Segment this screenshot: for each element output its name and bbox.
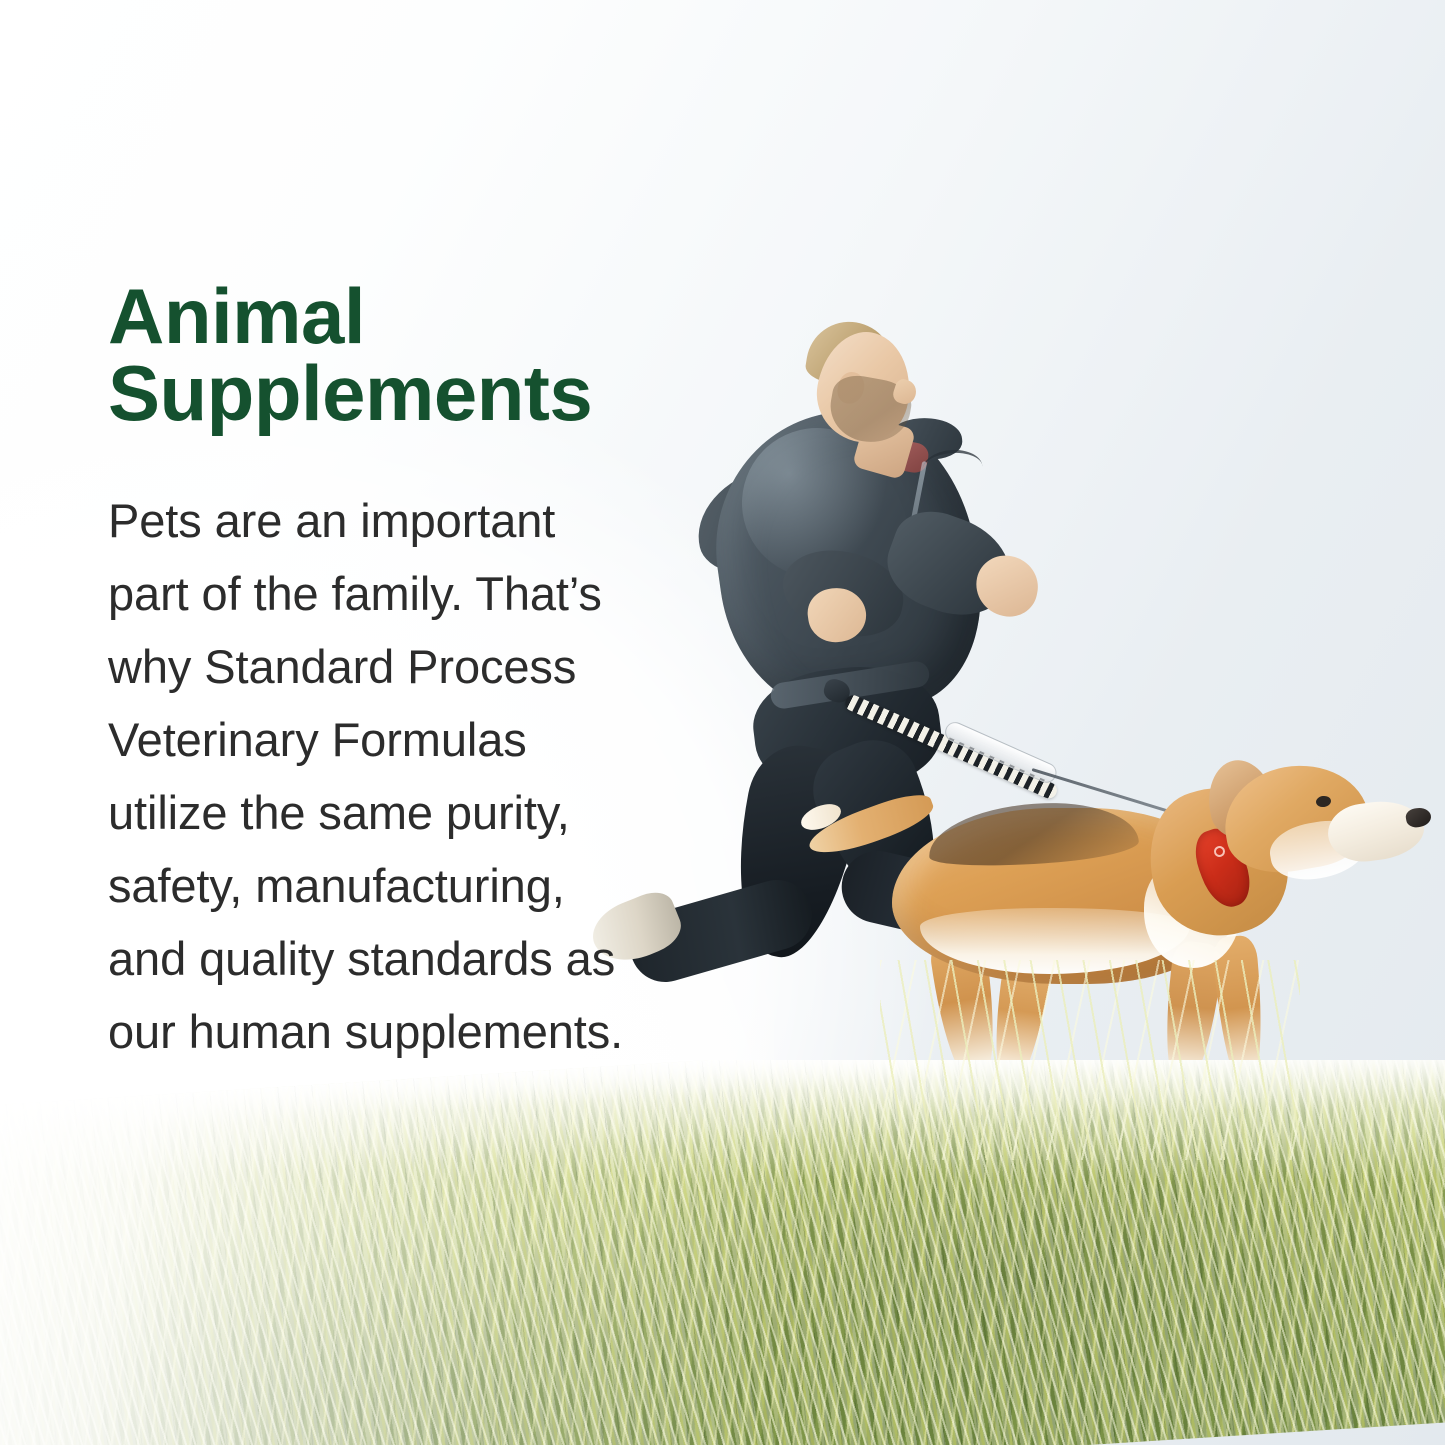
body-paragraph: Pets are an important part of the family… xyxy=(108,484,708,1068)
dog-nose xyxy=(1405,806,1433,829)
grass-sun-haze xyxy=(0,1060,896,1445)
grass-field xyxy=(0,1060,1445,1445)
text-column: Animal Supplements Pets are an important… xyxy=(108,278,708,1068)
hero-card: Animal Supplements Pets are an important… xyxy=(0,0,1445,1445)
page-title: Animal Supplements xyxy=(108,278,708,432)
